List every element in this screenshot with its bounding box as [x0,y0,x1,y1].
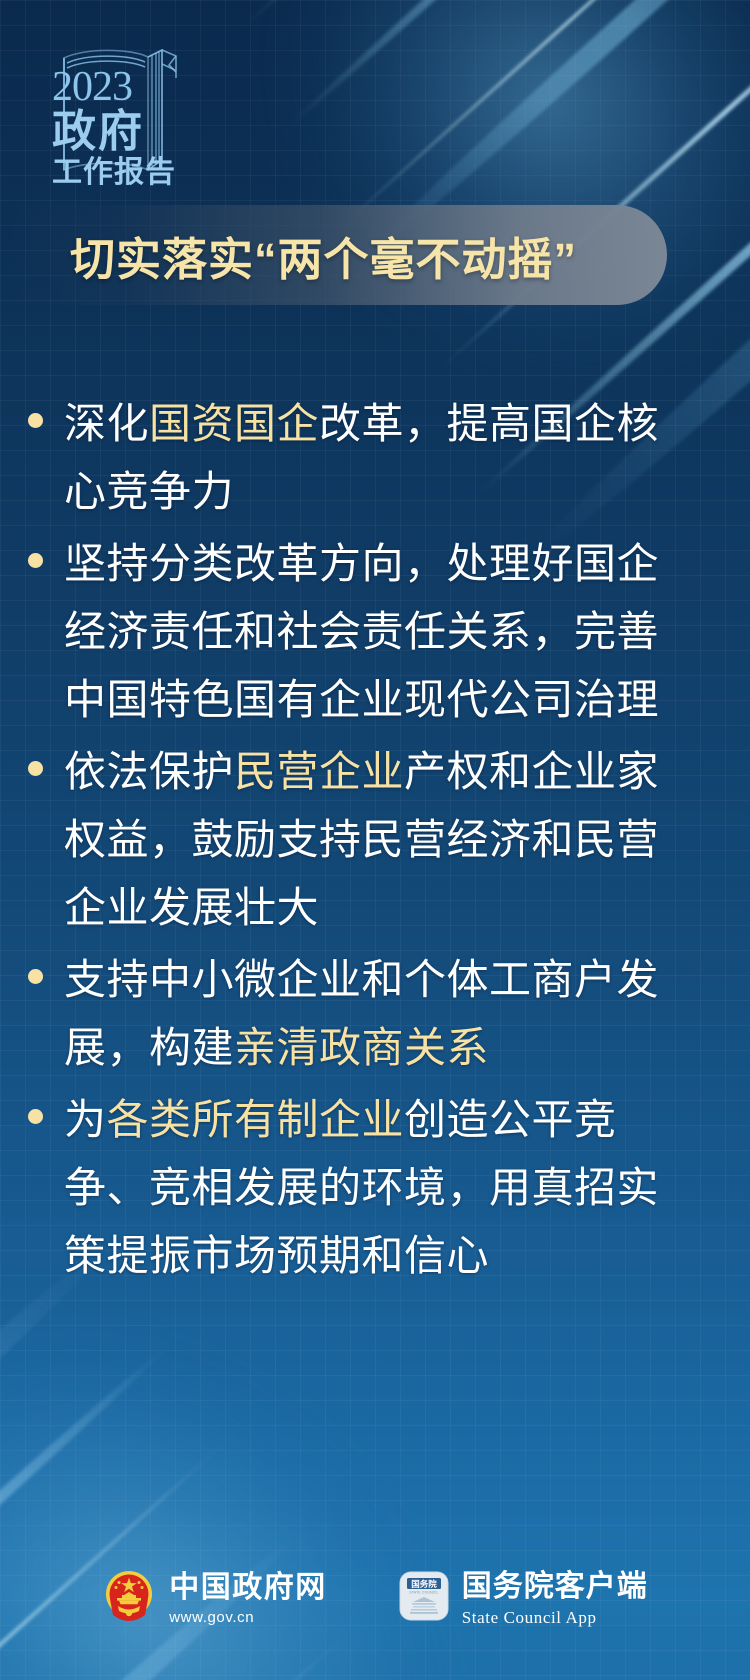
national-emblem-icon [102,1569,156,1628]
highlighted-phrase: 民营企业 [234,748,404,795]
brand-state-council-app[interactable]: 国务院 STATE COUNCIL 国务院客户端 State Council A… [399,1571,648,1626]
bullet-item: 深化国资国企改革，提高国企核心竞争力 [28,390,700,526]
light-streak [332,0,750,235]
bullet-item: 依法保护民营企业产权和企业家权益，鼓励支持民营经济和民营企业发展壮大 [28,738,700,942]
brand-text-state-council: 国务院客户端 State Council App [462,1572,648,1626]
bullet-dot-icon [28,969,43,984]
bullet-item: 支持中小微企业和个体工商户发展，构建亲清政商关系 [28,946,700,1082]
state-council-app-icon: 国务院 STATE COUNCIL [399,1571,449,1626]
book-outline-icon: 2023 政府 工作报告 [44,42,224,188]
title-banner: 切实落实“两个毫不动摇” [0,205,667,305]
svg-text:STATE COUNCIL: STATE COUNCIL [409,1591,438,1595]
light-streak [284,0,706,131]
poster-root: 2023 政府 工作报告 切实落实“两个毫不动摇” 深化国资国企改革，提高国企核… [0,0,750,1680]
brand-name-sub: State Council App [462,1609,648,1626]
plain-phrase: 深化 [64,400,149,447]
bullet-dot-icon [28,1109,43,1124]
brand-name-sub: www.gov.cn [169,1610,327,1625]
bullet-text: 深化国资国企改革，提高国企核心竞争力 [64,390,700,526]
light-streak [0,1341,172,1680]
footer-branding: 中国政府网 www.gov.cn 国务院 STATE COUNCIL [0,1569,750,1628]
brand-name-cn: 中国政府网 [169,1573,327,1603]
highlighted-phrase: 各类所有制企业 [107,1096,405,1143]
highlighted-phrase: 国资国企 [149,400,319,447]
bullet-dot-icon [28,413,43,428]
light-streak [0,1635,346,1680]
bullet-item: 为各类所有制企业创造公平竞争、竞相发展的环境，用真招实策提振市场预期和信心 [28,1086,700,1290]
brand-text-gov-cn: 中国政府网 www.gov.cn [169,1573,327,1625]
bullet-text: 支持中小微企业和个体工商户发展，构建亲清政商关系 [64,946,700,1082]
light-streak [436,0,750,373]
plain-phrase: 依法保护 [64,748,234,795]
logo-line-2: 工作报告 [52,156,176,188]
light-streak [0,1441,226,1680]
bullet-text: 依法保护民营企业产权和企业家权益，鼓励支持民营经济和民营企业发展壮大 [64,738,700,942]
logo-year: 2023 [52,64,132,110]
bullet-text: 坚持分类改革方向，处理好国企经济责任和社会责任关系，完善中国特色国有企业现代公司… [64,530,700,734]
light-streak [238,0,597,32]
bullet-list: 深化国资国企改革，提高国企核心竞争力坚持分类改革方向，处理好国企经济责任和社会责… [28,390,700,1294]
logo-line-1: 政府 [52,107,144,156]
plain-phrase: 坚持分类改革方向，处理好国企经济责任和社会责任关系，完善中国特色国有企业现代公司… [64,540,659,723]
bullet-dot-icon [28,761,43,776]
highlighted-phrase: 亲清政商关系 [234,1024,489,1071]
report-logo: 2023 政府 工作报告 [44,42,224,188]
bullet-item: 坚持分类改革方向，处理好国企经济责任和社会责任关系，完善中国特色国有企业现代公司… [28,530,700,734]
svg-text:国务院: 国务院 [411,1579,437,1589]
brand-gov-cn[interactable]: 中国政府网 www.gov.cn [102,1569,327,1628]
bullet-text: 为各类所有制企业创造公平竞争、竞相发展的环境，用真招实策提振市场预期和信心 [64,1086,700,1290]
brand-name-cn: 国务院客户端 [462,1572,648,1602]
bullet-dot-icon [28,553,43,568]
page-title: 切实落实“两个毫不动摇” [0,223,577,288]
plain-phrase: 为 [64,1096,107,1143]
